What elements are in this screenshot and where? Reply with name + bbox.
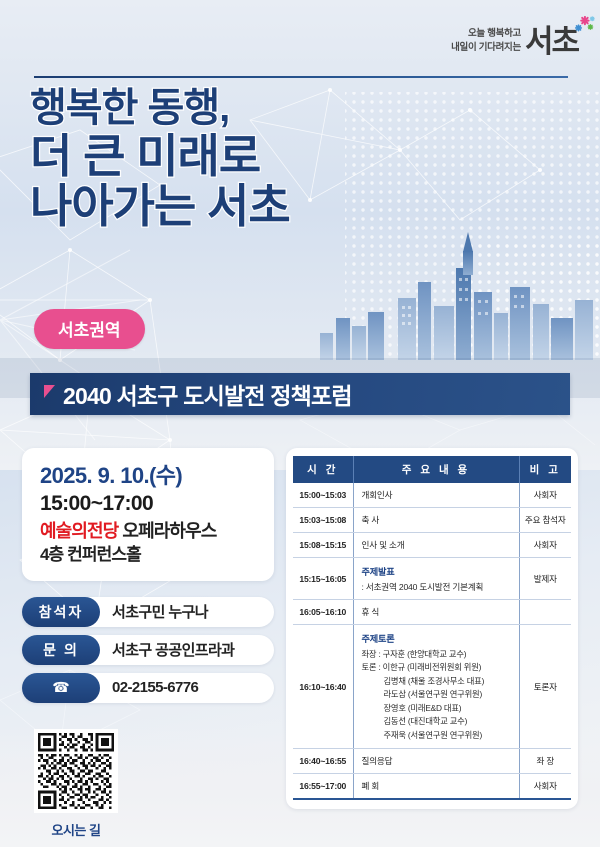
qr-caption: 오시는 길 xyxy=(26,820,126,839)
forum-title: 2040 서초구 도시발전 정책포럼 xyxy=(63,377,352,411)
contact-info-list: 참석자 서초구민 누구나 문 의 서초구 공공인프라과 ☎ 02-2155-67… xyxy=(22,597,274,703)
logo-slogan-line2: 내일이 기다려지는 xyxy=(451,41,521,55)
logo-stars-icon xyxy=(573,16,595,38)
info-key-inquiry: 문 의 xyxy=(22,635,100,665)
agenda-note-0: 사회자 xyxy=(519,483,571,508)
agenda-note-7: 사회자 xyxy=(519,774,571,800)
qr-code-icon[interactable] xyxy=(34,729,118,813)
agenda-header-note: 비 고 xyxy=(519,456,571,483)
headline-line-1: 행복한 동행, xyxy=(30,88,290,129)
seocho-logo: 오늘 행복하고 내일이 기다려지는 서초 xyxy=(451,26,578,57)
agenda-time-3: 15:15~16:05 xyxy=(293,558,353,600)
agenda-content-4: 휴 식 xyxy=(353,600,519,625)
info-row-attendees: 참석자 서초구민 누구나 xyxy=(22,597,274,627)
event-venue-highlight: 예술의전당 xyxy=(40,521,118,541)
agenda-time-0: 15:00~15:03 xyxy=(293,483,353,508)
event-hall: 4층 컨퍼런스홀 xyxy=(40,544,256,567)
agenda-panelist-3: 김동선 (대진대학교 교수) xyxy=(362,715,515,728)
logo-slogan-line1: 오늘 행복하고 xyxy=(451,27,521,41)
headline-block: 행복한 동행, 더 큰 미래로 나아가는 서초 xyxy=(30,88,290,230)
headline-line-2: 더 큰 미래로 xyxy=(30,133,290,180)
event-info-column: 2025. 9. 10.(수) 15:00~17:00 예술의전당 오페라하우스… xyxy=(22,448,274,839)
info-value-attendees: 서초구민 누구나 xyxy=(100,601,208,622)
phone-icon: ☎ xyxy=(22,673,100,703)
event-date: 2025. 9. 10.(수) xyxy=(40,462,256,490)
agenda-content-5: 주제토론 좌장 : 구자훈 (한양대학교 교수) 토론 : 이한규 (미래비전위… xyxy=(353,625,519,749)
info-row-phone: ☎ 02-2155-6776 xyxy=(22,673,274,703)
event-time: 15:00~17:00 xyxy=(40,490,256,517)
agenda-note-6: 좌 장 xyxy=(519,749,571,774)
table-row: 16:05~16:10 휴 식 xyxy=(293,600,571,625)
agenda-content-7: 폐 회 xyxy=(353,774,519,800)
agenda-note-3: 발제자 xyxy=(519,558,571,600)
event-venue: 예술의전당 오페라하우스 xyxy=(40,519,256,544)
forum-title-banner: 2040 서초구 도시발전 정책포럼 xyxy=(30,373,570,415)
agenda-time-4: 16:05~16:10 xyxy=(293,600,353,625)
agenda-header-time: 시 간 xyxy=(293,456,353,483)
triangle-marker-icon xyxy=(44,385,55,398)
headline-line-3: 나아가는 서초 xyxy=(30,183,290,230)
agenda-time-2: 15:08~15:15 xyxy=(293,533,353,558)
agenda-content-3-sub: : 서초권역 2040 도시발전 기본계획 xyxy=(362,581,515,593)
agenda-content-5-head: 주제토론 xyxy=(362,631,515,645)
region-badge-row: 서초권역 xyxy=(34,309,564,349)
table-row: 15:15~16:05 주제발표 : 서초권역 2040 도시발전 기본계획 발… xyxy=(293,558,571,600)
table-row: 16:55~17:00 폐 회 사회자 xyxy=(293,774,571,800)
badge-rule xyxy=(163,328,536,330)
qr-code-svg xyxy=(38,733,114,809)
agenda-content-3-head: 주제발표 xyxy=(362,564,515,578)
poster-canvas: 오늘 행복하고 내일이 기다려지는 서초 xyxy=(0,0,600,847)
agenda-content-1: 축 사 xyxy=(353,508,519,533)
agenda-chair: 좌장 : 구자훈 (한양대학교 교수) xyxy=(362,648,515,661)
header-divider xyxy=(34,76,568,78)
agenda-header-content: 주 요 내 용 xyxy=(353,456,519,483)
table-row: 16:10~16:40 주제토론 좌장 : 구자훈 (한양대학교 교수) 토론 … xyxy=(293,625,571,749)
agenda-header-row: 시 간 주 요 내 용 비 고 xyxy=(293,456,571,483)
agenda-content-6: 질의응답 xyxy=(353,749,519,774)
table-row: 15:08~15:15 인사 및 소개 사회자 xyxy=(293,533,571,558)
agenda-time-1: 15:03~15:08 xyxy=(293,508,353,533)
agenda-card: 시 간 주 요 내 용 비 고 15:00~15:03 개회인사 사회자 15:… xyxy=(286,448,578,809)
agenda-content-3: 주제발표 : 서초권역 2040 도시발전 기본계획 xyxy=(353,558,519,600)
agenda-time-7: 16:55~17:00 xyxy=(293,774,353,800)
agenda-panelist-2: 장영호 (미래E&D 대표) xyxy=(362,702,515,715)
agenda-panelist-1: 라도삼 (서울연구원 연구위원) xyxy=(362,688,515,701)
date-venue-card: 2025. 9. 10.(수) 15:00~17:00 예술의전당 오페라하우스… xyxy=(22,448,274,581)
info-row-inquiry: 문 의 서초구 공공인프라과 xyxy=(22,635,274,665)
agenda-panelist-4: 주재욱 (서울연구원 연구위원) xyxy=(362,729,515,742)
table-row: 15:00~15:03 개회인사 사회자 xyxy=(293,483,571,508)
region-badge: 서초권역 xyxy=(34,309,145,349)
info-key-attendees: 참석자 xyxy=(22,597,100,627)
agenda-note-5: 토론자 xyxy=(519,625,571,749)
agenda-content-0: 개회인사 xyxy=(353,483,519,508)
agenda-discussant-first: 토론 : 이한규 (미래비전위원회 위원) xyxy=(362,661,515,674)
logo-wordmark-text: 서초 xyxy=(525,24,578,59)
info-value-phone[interactable]: 02-2155-6776 xyxy=(100,679,198,696)
logo-slogan: 오늘 행복하고 내일이 기다려지는 xyxy=(451,27,521,57)
qr-block[interactable]: 오시는 길 xyxy=(26,729,126,839)
agenda-note-4 xyxy=(519,600,571,625)
agenda-note-1: 주요 참석자 xyxy=(519,508,571,533)
logo-wordmark: 서초 xyxy=(525,26,578,57)
agenda-panelist-0: 김병채 (채울 조경사무소 대표) xyxy=(362,675,515,688)
agenda-table: 시 간 주 요 내 용 비 고 15:00~15:03 개회인사 사회자 15:… xyxy=(293,456,571,800)
table-row: 15:03~15:08 축 사 주요 참석자 xyxy=(293,508,571,533)
agenda-time-5: 16:10~16:40 xyxy=(293,625,353,749)
agenda-content-2: 인사 및 소개 xyxy=(353,533,519,558)
table-row: 16:40~16:55 질의응답 좌 장 xyxy=(293,749,571,774)
agenda-time-6: 16:40~16:55 xyxy=(293,749,353,774)
agenda-note-2: 사회자 xyxy=(519,533,571,558)
event-venue-rest: 오페라하우스 xyxy=(118,521,216,541)
info-value-inquiry: 서초구 공공인프라과 xyxy=(100,639,234,660)
